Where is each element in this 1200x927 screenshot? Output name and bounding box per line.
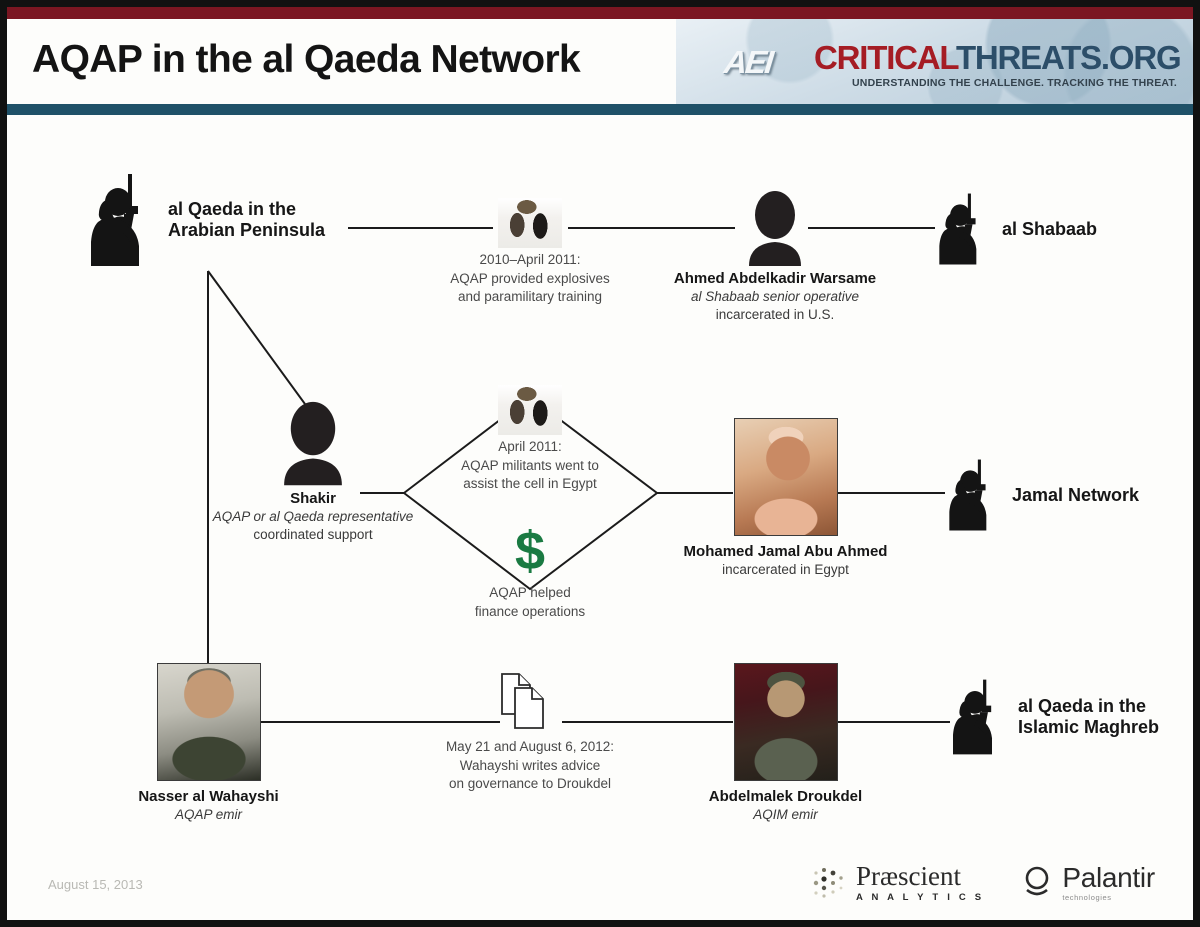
palantir-wordmark: Palantir <box>1062 864 1155 892</box>
page-title: AQAP in the al Qaeda Network <box>32 38 580 82</box>
node-droukdel[interactable]: Abdelmalek Droukdel AQIM emir <box>668 663 903 824</box>
node-wahayshi[interactable]: Nasser al Wahayshi AQAP emir <box>96 663 321 824</box>
node-aqim[interactable]: al Qaeda in the Islamic Maghreb <box>946 678 1159 756</box>
node-shakir[interactable]: Shakir AQAP or al Qaeda representative c… <box>198 400 428 543</box>
wordmark-threats: THREATS.ORG <box>956 39 1181 76</box>
node-al-shabaab[interactable]: al Shabaab <box>932 192 1097 266</box>
header-divider-bar <box>7 104 1193 115</box>
militants-photo-icon <box>498 198 562 248</box>
praescient-subtitle: A N A L Y T I C S <box>856 892 984 903</box>
node-mohamed-jamal[interactable]: Mohamed Jamal Abu Ahmed incarcerated in … <box>668 418 903 579</box>
edge-label-letters: May 21 and August 6, 2012: Wahayshi writ… <box>430 668 630 794</box>
node-mohamed-jamal-role: incarcerated in Egypt <box>668 561 903 578</box>
palantir-mark-icon <box>1020 864 1054 902</box>
praescient-analytics-logo[interactable]: Præscient A N A L Y T I C S <box>810 863 984 903</box>
node-aqim-label: al Qaeda in the Islamic Maghreb <box>1018 696 1159 738</box>
node-aqap-label: al Qaeda in the Arabian Peninsula <box>168 199 325 241</box>
militants-photo-icon <box>498 385 562 435</box>
wordmark-critical: CRITICAL <box>814 39 956 76</box>
abdelmalek-droukdel-portrait <box>734 663 838 781</box>
node-warsame[interactable]: Ahmed Abdelkadir Warsame al Shabaab seni… <box>660 190 890 323</box>
praescient-wordmark: Præscient <box>856 863 984 890</box>
top-accent-bar <box>7 7 1193 19</box>
node-al-shabaab-label: al Shabaab <box>1002 219 1097 240</box>
militant-with-rifle-icon <box>932 192 996 266</box>
node-jamal-network[interactable]: Jamal Network <box>942 458 1139 532</box>
node-warsame-status: incarcerated in U.S. <box>660 306 890 323</box>
node-jamal-network-label: Jamal Network <box>1012 485 1139 506</box>
edge-label-egypt-cell: April 2011: AQAP militants went to assis… <box>430 385 630 494</box>
person-silhouette-icon <box>273 400 353 486</box>
documents-icon <box>497 668 563 734</box>
militant-with-rifle-icon <box>84 172 162 268</box>
dollar-sign-icon: $ <box>430 524 630 578</box>
node-warsame-role: al Shabaab senior operative <box>660 288 890 305</box>
edge-label-training: 2010–April 2011: AQAP provided explosive… <box>430 198 630 307</box>
mohamed-jamal-portrait <box>734 418 838 536</box>
footer-date: August 15, 2013 <box>48 877 143 892</box>
node-wahayshi-role: AQAP emir <box>96 806 321 823</box>
criticalthreats-wordmark: CRITICALTHREATS.ORG <box>814 39 1180 77</box>
node-wahayshi-name: Nasser al Wahayshi <box>96 788 321 806</box>
critical-threats-logo[interactable]: AEI CRITICALTHREATS.ORG UNDERSTANDING TH… <box>676 19 1193 104</box>
militant-with-rifle-icon <box>942 458 1006 532</box>
nasser-al-wahayshi-portrait <box>157 663 261 781</box>
footer-logos: Præscient A N A L Y T I C S Palantir tec… <box>810 855 1170 911</box>
node-shakir-status: coordinated support <box>198 526 428 543</box>
infographic-page: AQAP in the al Qaeda Network AEI CRITICA… <box>0 0 1200 927</box>
palantir-subtitle: technologies <box>1062 893 1155 902</box>
node-droukdel-name: Abdelmalek Droukdel <box>668 788 903 806</box>
node-aqap[interactable]: al Qaeda in the Arabian Peninsula <box>84 172 325 268</box>
edge-label-finance: $ AQAP helped finance operations <box>430 524 630 621</box>
node-shakir-role: AQAP or al Qaeda representative <box>198 508 428 525</box>
aei-logo-icon: AEI <box>694 43 802 81</box>
node-warsame-name: Ahmed Abdelkadir Warsame <box>660 270 890 288</box>
militant-with-rifle-icon <box>946 678 1012 756</box>
palantir-logo[interactable]: Palantir technologies <box>1020 864 1155 902</box>
praescient-dots-icon <box>810 863 850 903</box>
person-silhouette-icon <box>739 190 811 266</box>
logo-tagline: UNDERSTANDING THE CHALLENGE. TRACKING TH… <box>852 77 1177 89</box>
node-mohamed-jamal-name: Mohamed Jamal Abu Ahmed <box>668 543 903 561</box>
node-shakir-name: Shakir <box>198 490 428 508</box>
node-droukdel-role: AQIM emir <box>668 806 903 823</box>
